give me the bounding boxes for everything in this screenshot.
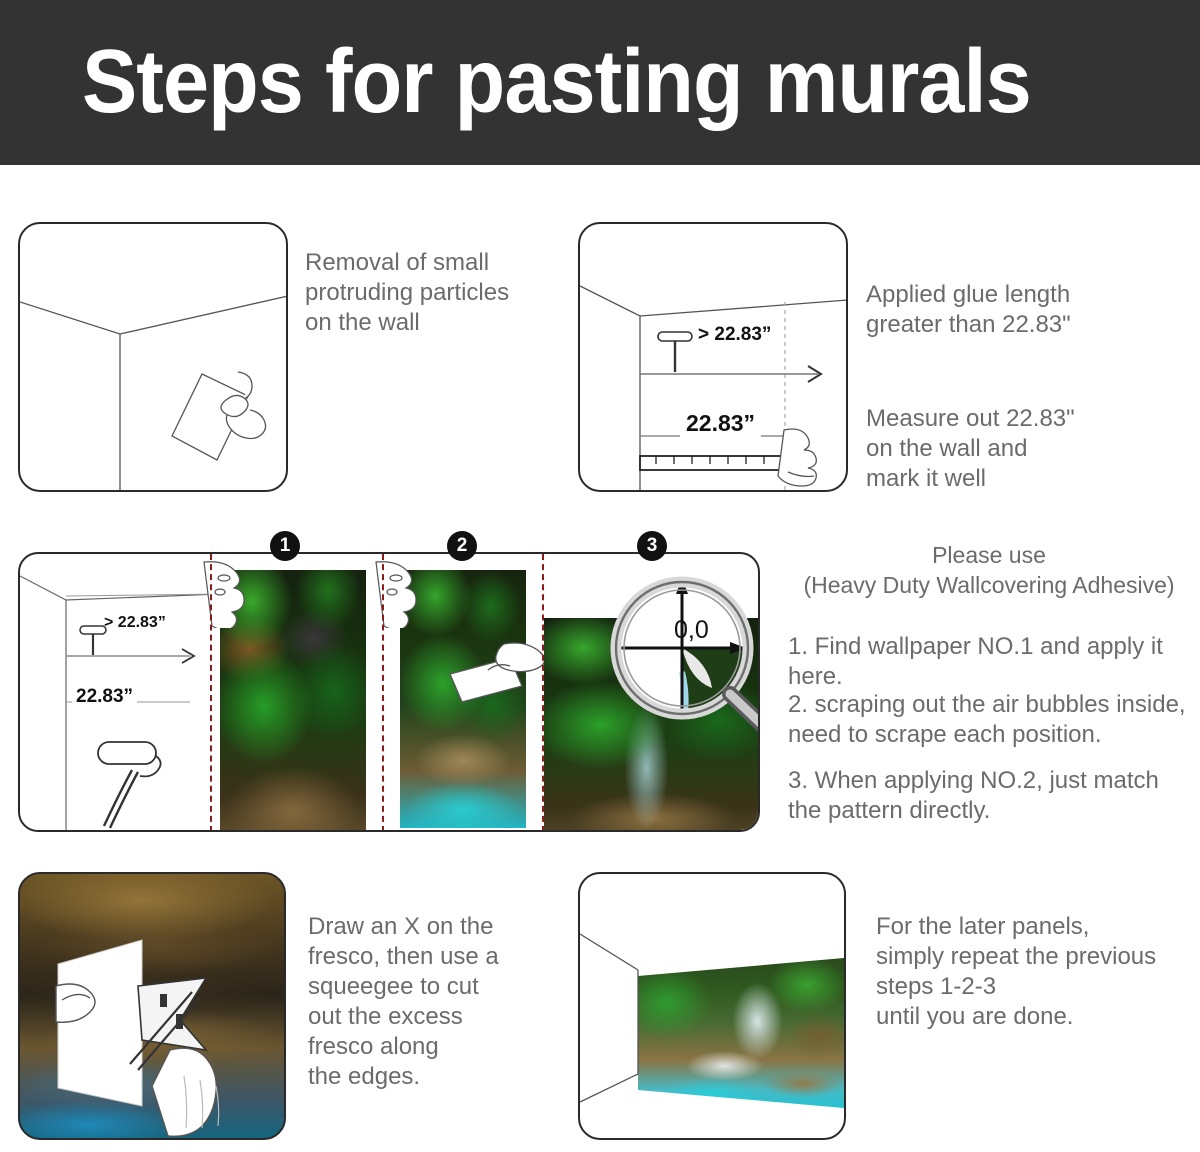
adhesive-heading-line1: Please use (788, 540, 1190, 570)
label-apply-glue-length: > 22.83” (104, 614, 166, 632)
panel-wall-prep (18, 222, 288, 492)
adhesive-heading: Please use (Heavy Duty Wallcovering Adhe… (788, 540, 1190, 600)
hand-icon-panel-1 (196, 558, 250, 628)
origin-label: 0,0 (674, 616, 709, 645)
seam-line-2 (382, 554, 384, 832)
room-perspective-lines (580, 874, 846, 1140)
squeegee-hand-icon (448, 640, 548, 712)
adhesive-heading-line2: (Heavy Duty Wallcovering Adhesive) (788, 570, 1190, 600)
header-bar: Steps for pasting murals (0, 0, 1200, 165)
apply-instruction-2: 2. scraping out the air bubbles inside, … (788, 690, 1188, 750)
apply-instruction-1: 1. Find wallpaper NO.1 and apply it here… (788, 632, 1188, 692)
measure-illustration (580, 224, 848, 492)
step-badge-1: 1 (270, 531, 300, 561)
panel-apply-strip: > 22.83” 22.83” (18, 552, 760, 832)
wall-corner-illustration (20, 224, 288, 492)
label-glue-length: > 22.83” (698, 324, 771, 346)
caption-wall-prep: Removal of small protruding particles on… (305, 248, 585, 338)
apply-instruction-3: 3. When applying NO.2, just match the pa… (788, 766, 1188, 826)
panel-measure: > 22.83” 22.83” (578, 222, 848, 492)
panel-trim (18, 872, 286, 1140)
caption-repeat: For the later panels, simply repeat the … (876, 912, 1200, 1032)
page-title: Steps for pasting murals (82, 31, 1031, 134)
caption-glue-length: Applied glue length greater than 22.83" (866, 280, 1166, 340)
step-badge-2: 2 (447, 531, 477, 561)
seam-line-1 (210, 554, 212, 832)
caption-trim: Draw an X on the fresco, then use a sque… (308, 912, 578, 1092)
caption-mark-wall: Measure out 22.83" on the wall and mark … (866, 404, 1176, 494)
instruction-sheet: Steps for pasting murals Removal of smal… (0, 0, 1200, 1152)
seam-line-3 (542, 554, 544, 832)
trim-illustration (20, 874, 286, 1140)
panel-finished (578, 872, 846, 1140)
magnifier-icon (598, 552, 760, 752)
hand-icon-panel-2 (368, 558, 420, 628)
label-apply-measure: 22.83” (72, 686, 137, 708)
step-badge-3: 3 (637, 531, 667, 561)
label-measure-length: 22.83” (680, 410, 761, 437)
